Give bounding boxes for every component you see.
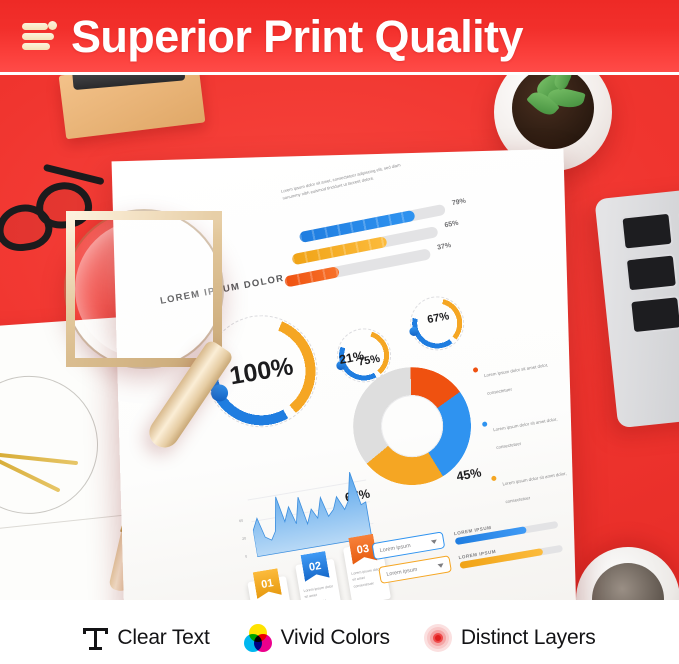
stacked-bars-icon bbox=[22, 19, 58, 53]
step-number: 01 bbox=[253, 568, 282, 599]
horizontal-bar-2: 65% bbox=[291, 254, 293, 265]
horizontal-bar-3: 37% bbox=[284, 277, 286, 288]
bar-value-label: 37% bbox=[437, 242, 452, 252]
chevron-down-icon bbox=[431, 539, 438, 544]
bar-value-label: 79% bbox=[451, 198, 466, 208]
legend-swatch bbox=[473, 367, 479, 373]
legend-item: Lorem ipsum dolor sit amet dolor, consec… bbox=[481, 406, 568, 455]
axis-tick-label: 20 bbox=[242, 536, 247, 541]
step-text: Lorem ipsum dolor sit amet consectetuer bbox=[303, 583, 337, 607]
legend-item: Lorem ipsum dolor sit amet dolor, consec… bbox=[472, 352, 559, 401]
donut-legend: Lorem ipsum dolor sit amet dolor, consec… bbox=[472, 352, 580, 528]
eyeglasses bbox=[0, 166, 121, 265]
legend-label: Lorem ipsum dolor sit amet dolor, consec… bbox=[493, 417, 558, 451]
clipboard bbox=[59, 75, 206, 139]
concentric-rings-icon bbox=[424, 624, 452, 652]
legend-swatch bbox=[491, 476, 497, 482]
laptop bbox=[594, 184, 679, 428]
feature-vivid-colors: Vivid Colors bbox=[244, 624, 390, 652]
tertiary-gauge: 67% bbox=[407, 294, 467, 354]
stapler bbox=[70, 75, 185, 90]
feature-label: Distinct Layers bbox=[461, 626, 596, 650]
poster-paragraph: Lorem ipsum dolor sit amet, consectetuer… bbox=[280, 158, 418, 202]
compass-tool bbox=[0, 437, 103, 515]
step-card: 01 Lorem ipsum dolor sit amet consectetu… bbox=[247, 576, 295, 612]
legend-swatch bbox=[482, 421, 488, 427]
serif-t-icon bbox=[83, 625, 108, 651]
legend-label: Lorem ipsum dolor sit amet dolor, consec… bbox=[502, 471, 567, 505]
bar-value-label: 65% bbox=[444, 220, 459, 230]
coffee-cup bbox=[576, 547, 679, 612]
dropdown-value: Lorem ipsum bbox=[379, 539, 431, 554]
feature-bar: Clear Text Vivid Colors Distinct Layers bbox=[0, 612, 679, 664]
feature-distinct-layers: Distinct Layers bbox=[424, 624, 596, 652]
legend-item: Lorem ipsum dolor sit amet dolor, consec… bbox=[491, 461, 578, 510]
chevron-down-icon bbox=[437, 563, 444, 568]
feature-label: Vivid Colors bbox=[281, 626, 390, 650]
legend-label: Lorem ipsum dolor sit amet dolor, consec… bbox=[484, 362, 549, 396]
page-title: Superior Print Quality bbox=[71, 14, 523, 59]
cmyk-venn-icon bbox=[244, 624, 272, 652]
dropdown-value: Lorem ipsum bbox=[386, 563, 438, 578]
header-banner: Superior Print Quality bbox=[0, 0, 679, 75]
gauge-value-label: 67% bbox=[404, 284, 472, 352]
axis-tick-label: 60 bbox=[239, 519, 244, 524]
donut-slice-label: 45% bbox=[455, 465, 482, 483]
labeled-progress-bar-orange: LOREM IPSUM bbox=[458, 538, 563, 569]
feature-label: Clear Text bbox=[117, 626, 209, 650]
dropdown-blue[interactable]: Lorem ipsum bbox=[371, 531, 445, 560]
product-marketing-image: Superior Print Quality bbox=[0, 0, 679, 664]
step-text: Lorem ipsum dolor sit amet consectetuer bbox=[255, 600, 289, 612]
desk-scene: LOREM IPSUM DOLOR Lorem ipsum dolor sit … bbox=[0, 75, 679, 612]
poster-title: LOREM IPSUM DOLOR bbox=[159, 273, 285, 307]
axis-tick-label: 0 bbox=[245, 554, 248, 558]
donut-chart bbox=[351, 365, 472, 486]
feature-clear-text: Clear Text bbox=[83, 625, 209, 651]
step-card: 02 Lorem ipsum dolor sit amet consectetu… bbox=[295, 559, 343, 612]
step-number: 02 bbox=[301, 551, 330, 582]
horizontal-bar-1: 79% bbox=[299, 232, 301, 243]
